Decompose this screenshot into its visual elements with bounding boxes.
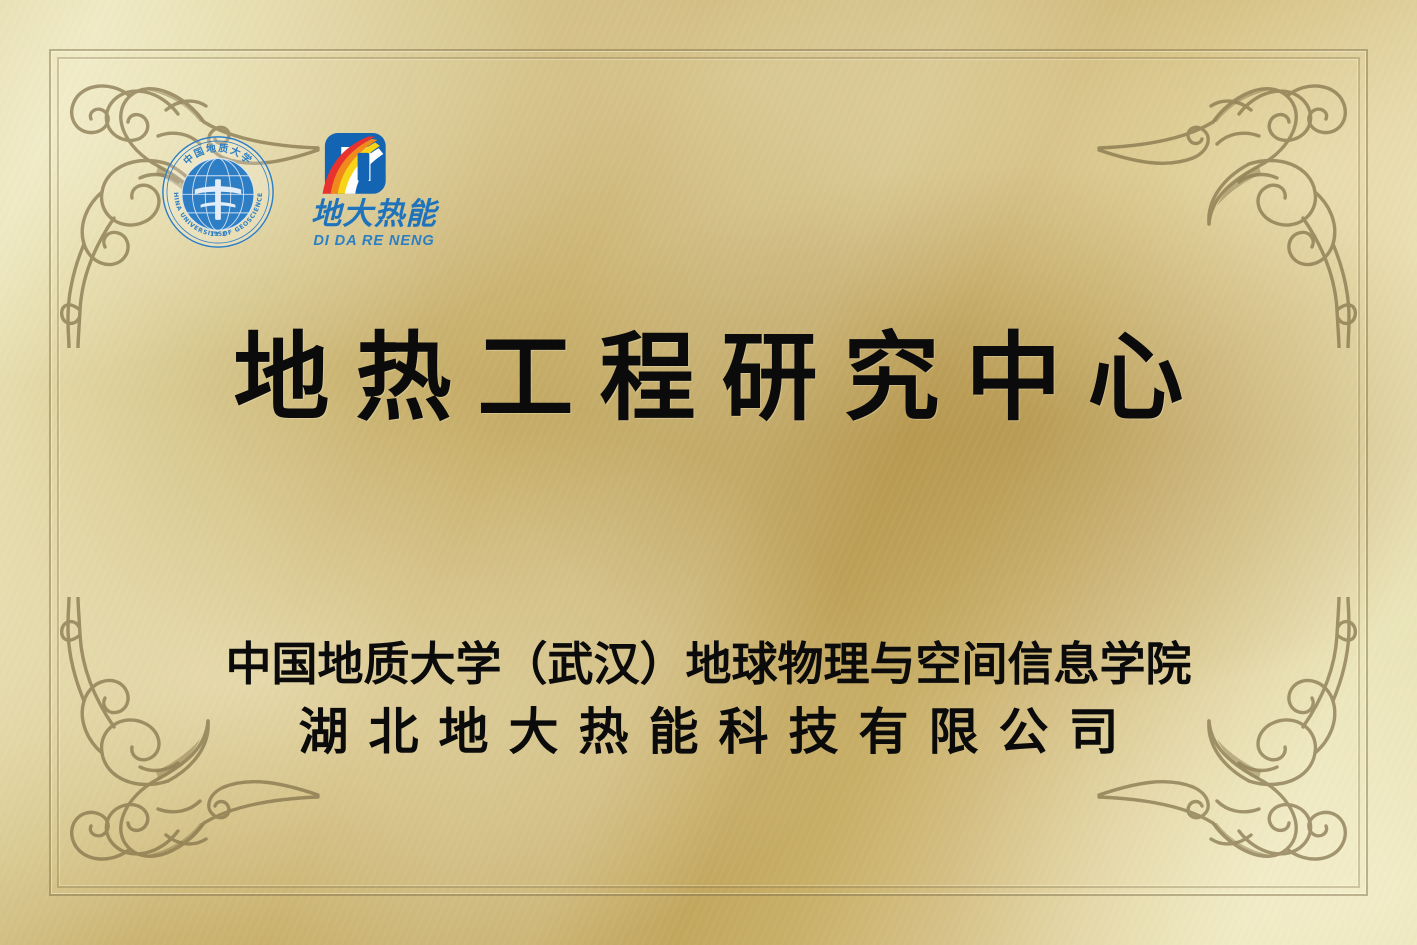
company-line: 湖北地大热能科技有限公司 — [0, 706, 1417, 759]
didareneng-mark-icon: 地大热能 DI DA RE NENG — [298, 133, 450, 251]
logo-row: 中国地质大学 CHINA UNIVERSITY OF GEOSCIENCES 1… — [160, 133, 450, 251]
didareneng-pinyin: DI DA RE NENG — [313, 233, 434, 249]
didareneng-logo: 地大热能 DI DA RE NENG — [298, 133, 450, 251]
page-title: 地热工程研究中心 — [0, 330, 1417, 426]
institution-line: 中国地质大学（武汉）地球物理与空间信息学院 — [0, 640, 1417, 688]
cug-year: 1952 — [210, 232, 226, 238]
cug-seal-icon: 中国地质大学 CHINA UNIVERSITY OF GEOSCIENCES 1… — [160, 134, 276, 250]
didareneng-chinese: 地大热能 — [311, 197, 440, 232]
award-plaque: 中国地质大学 CHINA UNIVERSITY OF GEOSCIENCES 1… — [0, 0, 1417, 945]
corner-ornament-top-right — [1069, 18, 1399, 348]
